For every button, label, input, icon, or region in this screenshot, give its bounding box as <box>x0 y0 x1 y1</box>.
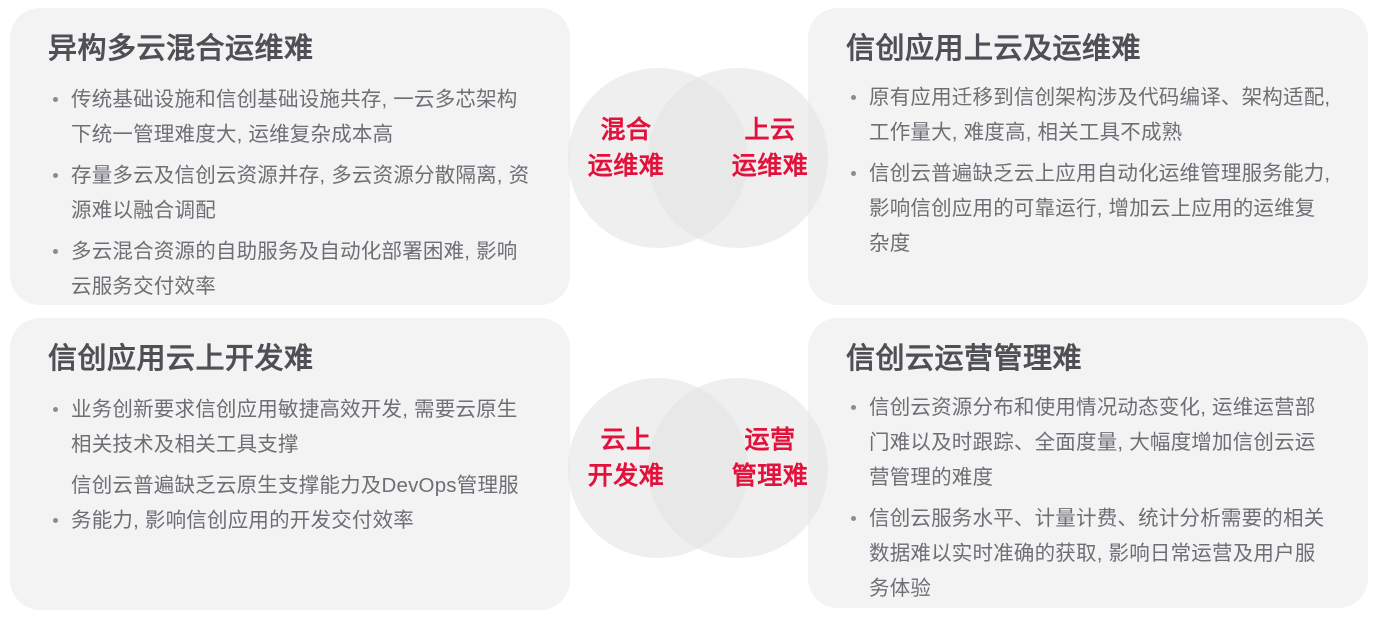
card-title: 信创应用上云及运维难 <box>846 34 1334 66</box>
card-heterogeneous-multicloud-ops: 异构多云混合运维难 传统基础设施和信创基础设施共存, 一云多芯架构下统一管理难度… <box>10 8 570 305</box>
bullet-text: 信创云普遍缺乏云上应用自动化运维管理服务能力, 影响信创应用的可靠运行, 增加云… <box>869 162 1330 255</box>
bullet-dot-icon <box>53 97 58 102</box>
bullet-list: 原有应用迁移到信创架构涉及代码编译、架构适配, 工作量大, 难度高, 相关工具不… <box>846 80 1334 261</box>
venn-label-operations-management: 运营 管理难 <box>710 422 830 494</box>
venn-label-cloud-migration-ops: 上云 运维难 <box>710 112 830 184</box>
card-title: 信创应用云上开发难 <box>48 344 536 376</box>
bullet-text: 原有应用迁移到信创架构涉及代码编译、架构适配, 工作量大, 难度高, 相关工具不… <box>869 86 1330 144</box>
list-item: 存量多云及信创云资源并存, 多云资源分散隔离, 资源难以融合调配 <box>48 158 536 228</box>
venn-diagram-bottom: 云上 开发难 运营 管理难 <box>568 378 828 558</box>
venn-diagram-top: 混合 运维难 上云 运维难 <box>568 68 828 248</box>
bullet-text: 业务创新要求信创应用敏捷高效开发, 需要云原生相关技术及相关工具支撑 <box>71 398 518 456</box>
bullet-list: 传统基础设施和信创基础设施共存, 一云多芯架构下统一管理难度大, 运维复杂成本高… <box>48 82 536 304</box>
list-item: 传统基础设施和信创基础设施共存, 一云多芯架构下统一管理难度大, 运维复杂成本高 <box>48 82 536 152</box>
bullet-dot-icon <box>851 516 856 521</box>
bullet-dot-icon <box>53 407 58 412</box>
bullet-dot-icon <box>53 173 58 178</box>
venn-label-cloud-development: 云上 开发难 <box>566 422 686 494</box>
list-item: 信创云普遍缺乏云原生支撑能力及DevOps管理服务能力, 影响信创应用的开发交付… <box>48 468 536 538</box>
bullet-list: 信创云资源分布和使用情况动态变化, 运维运营部门难以及时跟踪、全面度量, 大幅度… <box>846 390 1334 606</box>
list-item: 信创云服务水平、计量计费、统计分析需要的相关数据难以实时准确的获取, 影响日常运… <box>846 501 1334 606</box>
infographic-canvas: 异构多云混合运维难 传统基础设施和信创基础设施共存, 一云多芯架构下统一管理难度… <box>0 0 1378 620</box>
bullet-dot-icon <box>851 95 856 100</box>
bullet-dot-icon <box>851 171 856 176</box>
list-item: 信创云资源分布和使用情况动态变化, 运维运营部门难以及时跟踪、全面度量, 大幅度… <box>846 390 1334 495</box>
bullet-text: 传统基础设施和信创基础设施共存, 一云多芯架构下统一管理难度大, 运维复杂成本高 <box>71 88 518 146</box>
venn-label-hybrid-ops: 混合 运维难 <box>566 112 686 184</box>
bullet-list: 业务创新要求信创应用敏捷高效开发, 需要云原生相关技术及相关工具支撑 信创云普遍… <box>48 392 536 538</box>
list-item: 信创云普遍缺乏云上应用自动化运维管理服务能力, 影响信创应用的可靠运行, 增加云… <box>846 156 1334 261</box>
bullet-text: 信创云普遍缺乏云原生支撑能力及DevOps管理服务能力, 影响信创应用的开发交付… <box>71 474 519 532</box>
list-item: 多云混合资源的自助服务及自动化部署困难, 影响云服务交付效率 <box>48 234 536 304</box>
bullet-text: 信创云服务水平、计量计费、统计分析需要的相关数据难以实时准确的获取, 影响日常运… <box>869 507 1324 600</box>
card-title: 信创云运营管理难 <box>846 344 1334 376</box>
bullet-text: 信创云资源分布和使用情况动态变化, 运维运营部门难以及时跟踪、全面度量, 大幅度… <box>869 396 1316 489</box>
card-xinchuang-cloud-development: 信创应用云上开发难 业务创新要求信创应用敏捷高效开发, 需要云原生相关技术及相关… <box>10 318 570 610</box>
card-title: 异构多云混合运维难 <box>48 34 536 66</box>
card-xinchuang-cloud-operations: 信创云运营管理难 信创云资源分布和使用情况动态变化, 运维运营部门难以及时跟踪、… <box>808 318 1368 608</box>
list-item: 业务创新要求信创应用敏捷高效开发, 需要云原生相关技术及相关工具支撑 <box>48 392 536 462</box>
card-xinchuang-app-migration-ops: 信创应用上云及运维难 原有应用迁移到信创架构涉及代码编译、架构适配, 工作量大,… <box>808 8 1368 305</box>
list-item: 原有应用迁移到信创架构涉及代码编译、架构适配, 工作量大, 难度高, 相关工具不… <box>846 80 1334 150</box>
bullet-text: 存量多云及信创云资源并存, 多云资源分散隔离, 资源难以融合调配 <box>71 164 529 222</box>
bullet-dot-icon <box>53 518 58 523</box>
bullet-dot-icon <box>851 405 856 410</box>
bullet-dot-icon <box>53 249 58 254</box>
bullet-text: 多云混合资源的自助服务及自动化部署困难, 影响云服务交付效率 <box>71 240 518 298</box>
